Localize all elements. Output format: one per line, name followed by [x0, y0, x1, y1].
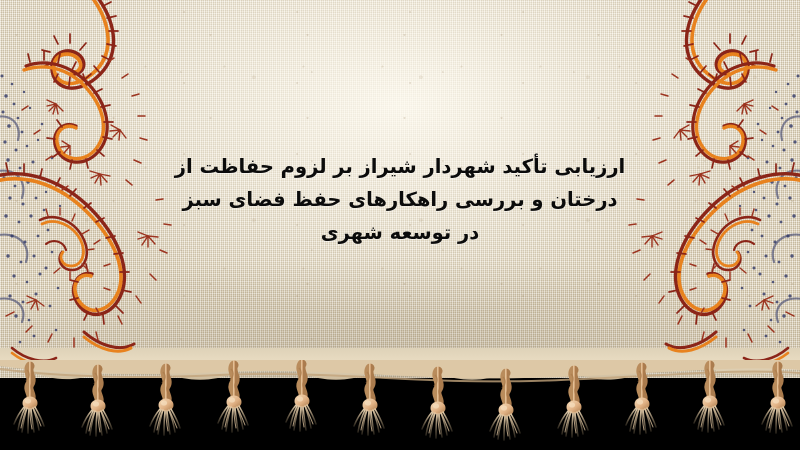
headline-line-3: در توسعه شهری [150, 216, 650, 249]
poster-canvas: ارزیابی تأکید شهردار شیراز بر لزوم حفاظت… [0, 0, 800, 450]
page-title: ارزیابی تأکید شهردار شیراز بر لزوم حفاظت… [150, 150, 650, 249]
headline-line-1: ارزیابی تأکید شهردار شیراز بر لزوم حفاظت… [150, 150, 650, 183]
headline-line-2: درختان و بررسی راهکارهای حفظ فضای سبز [150, 183, 650, 216]
